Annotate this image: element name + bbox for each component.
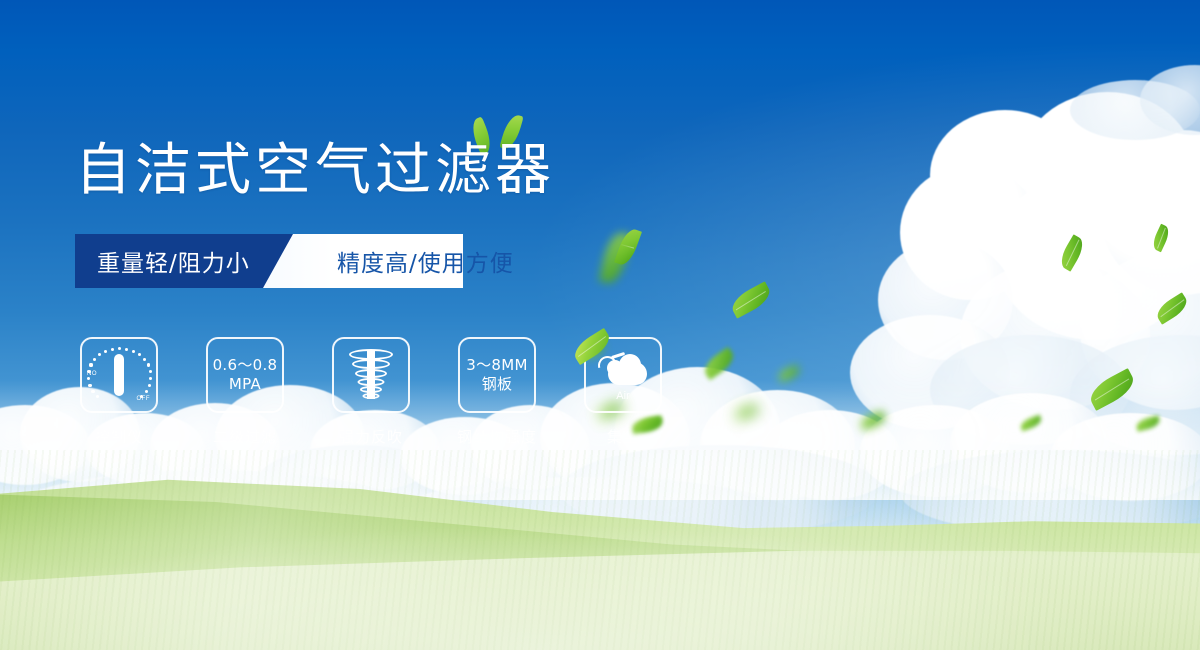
gauge-label-on: NO: [87, 371, 97, 377]
feature-label: 二级过滤: [213, 426, 277, 447]
feature-item-controller[interactable]: NO OFF 控制仪: [80, 337, 158, 447]
hero-banner: 自洁式空气过滤器 重量轻/阻力小 精度高/使用方便: [0, 0, 1200, 650]
steel-plate-text: 钢板: [482, 375, 513, 394]
feature-icon-box: NO OFF: [80, 337, 158, 413]
feature-label: 钢结构强度: [457, 426, 537, 447]
feature-label: 强力反吹: [339, 426, 403, 447]
feature-icon-box: [332, 337, 410, 413]
feature-item-blowback[interactable]: 强力反吹: [332, 337, 410, 447]
feature-icon-box: 0.6～0.8 MPA: [206, 337, 284, 413]
feature-label: 控制仪: [95, 426, 143, 447]
gauge-label-off: OFF: [137, 396, 151, 402]
feature-item-secondary-filter[interactable]: 0.6～0.8 MPA 二级过滤: [206, 337, 284, 447]
page-title: 自洁式空气过滤器: [75, 143, 555, 199]
filter-stack-icon: [348, 349, 394, 401]
air-caption: Air: [595, 390, 651, 402]
subtitle-secondary-text: 精度高/使用方便: [337, 234, 514, 288]
steel-thickness-text: 3～8MM: [466, 356, 527, 375]
gauge-dial-icon: NO OFF: [87, 344, 151, 406]
pressure-value-text: 0.6～0.8: [213, 356, 278, 375]
subtitle-primary-text: 重量轻/阻力小: [97, 234, 250, 288]
air-cloud-icon: Air: [595, 350, 651, 400]
pressure-unit-text: MPA: [229, 375, 261, 394]
subtitle-bar: 重量轻/阻力小 精度高/使用方便: [75, 234, 463, 288]
feature-item-steel-strength[interactable]: 3～8MM 钢板 钢结构强度: [458, 337, 536, 447]
feature-icon-box: 3～8MM 钢板: [458, 337, 536, 413]
banner-content: 自洁式空气过滤器 重量轻/阻力小 精度高/使用方便: [0, 0, 1200, 650]
gauge-pointer: [114, 354, 124, 396]
